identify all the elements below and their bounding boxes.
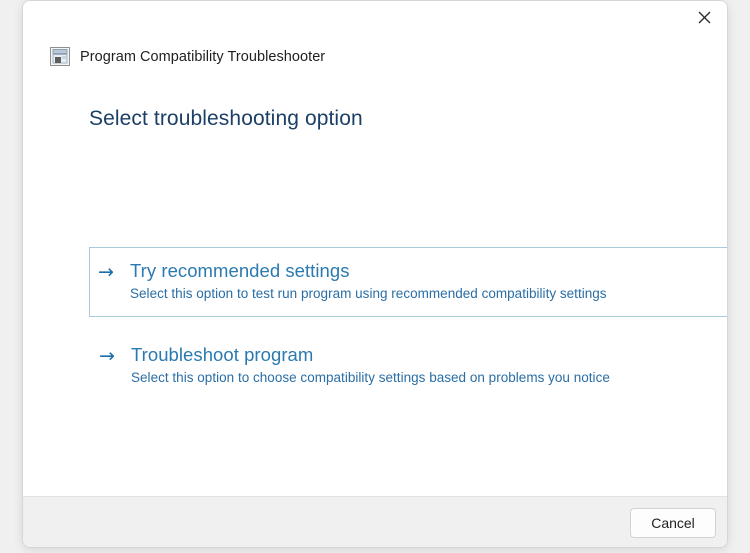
title-bar bbox=[23, 1, 727, 37]
close-icon[interactable] bbox=[681, 1, 727, 33]
option-title: Troubleshoot program bbox=[131, 344, 313, 365]
page-title: Select troubleshooting option bbox=[89, 107, 363, 131]
app-title: Program Compatibility Troubleshooter bbox=[80, 49, 325, 65]
option-description: Select this option to test run program u… bbox=[130, 285, 728, 303]
option-troubleshoot-program[interactable]: → Troubleshoot program Select this optio… bbox=[89, 331, 728, 401]
program-window-icon bbox=[50, 47, 70, 66]
arrow-right-icon: → bbox=[98, 260, 130, 282]
arrow-right-icon: → bbox=[99, 344, 131, 366]
option-title: Try recommended settings bbox=[130, 260, 350, 281]
footer-bar: Cancel bbox=[23, 496, 727, 547]
options-spacer bbox=[89, 317, 728, 331]
option-description: Select this option to choose compatibili… bbox=[131, 369, 728, 387]
cancel-button[interactable]: Cancel bbox=[630, 508, 716, 538]
app-header: Program Compatibility Troubleshooter bbox=[50, 47, 325, 66]
troubleshooter-dialog: Program Compatibility Troubleshooter Sel… bbox=[22, 0, 728, 548]
option-try-recommended-settings[interactable]: → Try recommended settings Select this o… bbox=[89, 247, 728, 317]
options-list: → Try recommended settings Select this o… bbox=[89, 247, 728, 401]
